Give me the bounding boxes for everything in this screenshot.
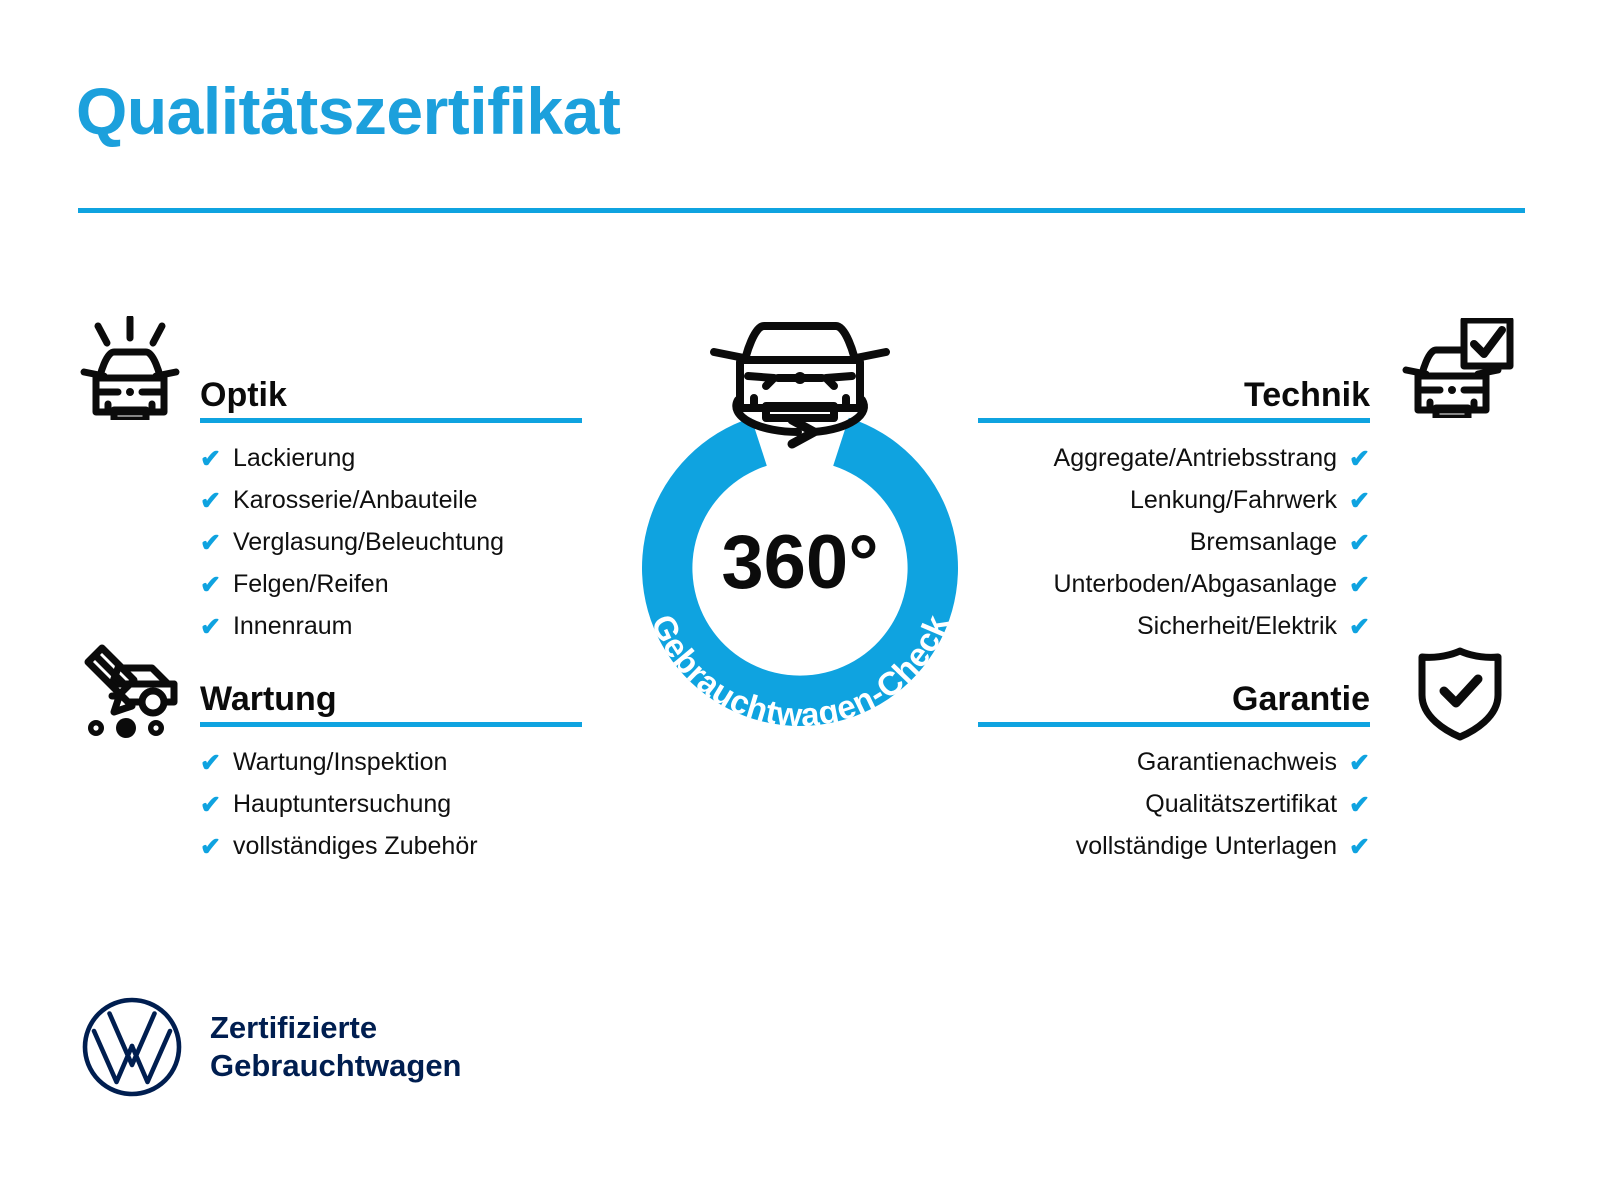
check-icon: ✔	[200, 615, 221, 640]
list-item: Lenkung/Fahrwerk ✔	[978, 485, 1370, 515]
check-icon: ✔	[200, 835, 221, 860]
section-technik-title: Technik	[1244, 378, 1370, 412]
list-item: ✔ Wartung/Inspektion	[200, 747, 582, 777]
list-item-label: Hauptuntersuchung	[233, 789, 451, 819]
list-item: Qualitätszertifikat ✔	[978, 789, 1370, 819]
section-optik-items: ✔ Lackierung ✔ Karosserie/Anbauteile ✔ V…	[200, 443, 582, 641]
footer-line-1: Zertifizierte	[210, 1009, 462, 1047]
check-icon: ✔	[1349, 573, 1370, 598]
check-icon: ✔	[1349, 489, 1370, 514]
check-icon: ✔	[1349, 531, 1370, 556]
list-item-label: Felgen/Reifen	[233, 569, 389, 599]
section-technik-items: Aggregate/Antriebsstrang ✔ Lenkung/Fahrw…	[978, 443, 1370, 641]
check-icon: ✔	[1349, 793, 1370, 818]
list-item: Bremsanlage ✔	[978, 527, 1370, 557]
shield-check-icon	[1412, 645, 1508, 741]
list-item-label: Qualitätszertifikat	[1145, 789, 1337, 819]
section-wartung-title: Wartung	[200, 682, 337, 716]
check-icon: ✔	[1349, 751, 1370, 776]
list-item: ✔ Karosserie/Anbauteile	[200, 485, 582, 515]
section-wartung: Wartung ✔ Wartung/Inspektion ✔ Hauptunte…	[200, 660, 582, 873]
list-item-label: Lenkung/Fahrwerk	[1130, 485, 1337, 515]
list-item: ✔ vollständiges Zubehör	[200, 831, 582, 861]
check-icon: ✔	[200, 793, 221, 818]
list-item: ✔ Felgen/Reifen	[200, 569, 582, 599]
list-item: Sicherheit/Elektrik ✔	[978, 611, 1370, 641]
check-icon: ✔	[1349, 447, 1370, 472]
section-technik-header: Technik	[978, 356, 1370, 418]
check-icon: ✔	[1349, 835, 1370, 860]
car-service-pencil-icon	[74, 640, 186, 738]
list-item-label: Sicherheit/Elektrik	[1137, 611, 1337, 641]
section-garantie-items: Garantienachweis ✔ Qualitätszertifikat ✔…	[978, 747, 1370, 861]
check-icon: ✔	[200, 447, 221, 472]
list-item-label: Lackierung	[233, 443, 355, 473]
footer-text: Zertifizierte Gebrauchtwagen	[210, 1009, 462, 1085]
section-wartung-header: Wartung	[200, 660, 582, 722]
list-item-label: Aggregate/Antriebsstrang	[1054, 443, 1338, 473]
list-item: ✔ Hauptuntersuchung	[200, 789, 582, 819]
check-icon: ✔	[200, 573, 221, 598]
list-item: Unterboden/Abgasanlage ✔	[978, 569, 1370, 599]
list-item: Aggregate/Antriebsstrang ✔	[978, 443, 1370, 473]
check-icon: ✔	[1349, 615, 1370, 640]
list-item-label: Unterboden/Abgasanlage	[1053, 569, 1337, 599]
list-item-label: Garantienachweis	[1137, 747, 1337, 777]
list-item-label: Verglasung/Beleuchtung	[233, 527, 504, 557]
list-item: vollständige Unterlagen ✔	[978, 831, 1370, 861]
list-item-label: Wartung/Inspektion	[233, 747, 447, 777]
list-item-label: vollständige Unterlagen	[1076, 831, 1337, 861]
section-technik-divider	[978, 418, 1370, 423]
section-wartung-divider	[200, 722, 582, 727]
section-optik-header: Optik	[200, 356, 582, 418]
quality-certificate-page: Qualitätszertifikat	[0, 0, 1600, 1200]
gebrauchtwagen-check-badge: Gebrauchtwagen-Check 360°	[588, 300, 1012, 760]
list-item-label: Karosserie/Anbauteile	[233, 485, 478, 515]
car-front-checkbox-icon	[1402, 318, 1514, 418]
list-item-label: Bremsanlage	[1190, 527, 1337, 557]
list-item-label: Innenraum	[233, 611, 353, 641]
section-technik: Technik Aggregate/Antriebsstrang ✔ Lenku…	[978, 356, 1370, 653]
list-item: Garantienachweis ✔	[978, 747, 1370, 777]
section-garantie: Garantie Garantienachweis ✔ Qualitätszer…	[978, 660, 1370, 873]
check-icon: ✔	[200, 489, 221, 514]
footer-line-2: Gebrauchtwagen	[210, 1047, 462, 1085]
badge-center-label: 360°	[721, 520, 878, 605]
list-item: ✔ Verglasung/Beleuchtung	[200, 527, 582, 557]
section-garantie-divider	[978, 722, 1370, 727]
section-optik-title: Optik	[200, 378, 287, 412]
section-garantie-title: Garantie	[1232, 682, 1370, 716]
list-item-label: vollständiges Zubehör	[233, 831, 478, 861]
section-garantie-header: Garantie	[978, 660, 1370, 722]
check-icon: ✔	[200, 531, 221, 556]
page-title: Qualitätszertifikat	[76, 78, 620, 144]
list-item: ✔ Lackierung	[200, 443, 582, 473]
section-wartung-items: ✔ Wartung/Inspektion ✔ Hauptuntersuchung…	[200, 747, 582, 861]
vw-logo-lockup: Zertifizierte Gebrauchtwagen	[80, 995, 462, 1099]
car-front-shine-icon	[74, 316, 186, 420]
list-item: ✔ Innenraum	[200, 611, 582, 641]
title-divider	[78, 208, 1525, 213]
volkswagen-logo	[80, 995, 184, 1099]
check-icon: ✔	[200, 751, 221, 776]
section-optik-divider	[200, 418, 582, 423]
section-optik: Optik ✔ Lackierung ✔ Karosserie/Anbautei…	[200, 356, 582, 653]
